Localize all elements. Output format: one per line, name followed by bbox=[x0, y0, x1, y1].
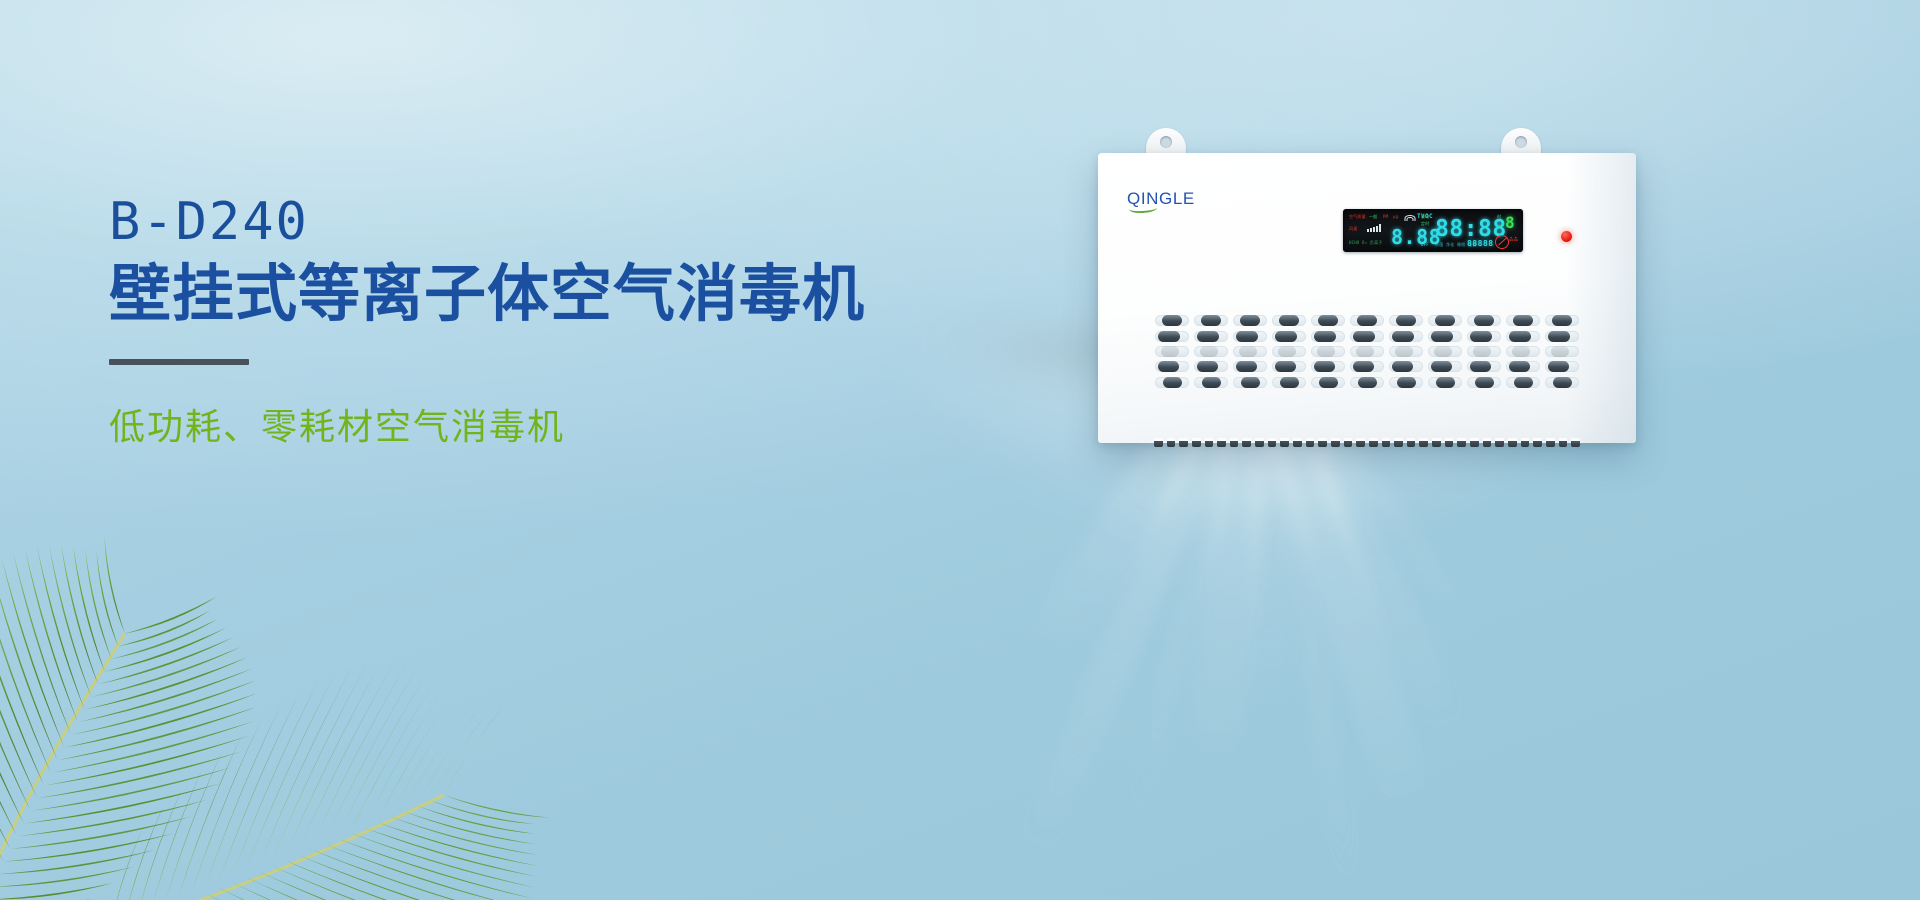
grille-slot bbox=[1545, 377, 1579, 388]
louver-tooth bbox=[1154, 438, 1163, 447]
wifi-icon bbox=[1405, 214, 1414, 221]
palm-leaflet bbox=[444, 795, 550, 817]
palm-leaflet bbox=[310, 654, 412, 849]
grille-slot bbox=[1272, 331, 1306, 342]
louver-tooth bbox=[1167, 438, 1176, 447]
grille-slot bbox=[1389, 331, 1423, 342]
product-banner: B-D240 壁挂式等离子体空气消毒机 低功耗、零耗材空气消毒机 QINGLE … bbox=[0, 0, 1920, 900]
grille-slot bbox=[1350, 331, 1384, 342]
grille-slot bbox=[1311, 315, 1345, 326]
louver-tooth bbox=[1407, 438, 1416, 447]
louver-tooth bbox=[1419, 438, 1428, 447]
grille-slot bbox=[1155, 346, 1189, 357]
grille-slot bbox=[1311, 346, 1345, 357]
grille-slot bbox=[1155, 315, 1189, 326]
palm-leaflet bbox=[137, 787, 183, 900]
lcd-label-minute: 分 bbox=[1497, 223, 1501, 228]
grille-slot bbox=[1272, 361, 1306, 372]
louver-tooth bbox=[1318, 438, 1327, 447]
palm-leaflet bbox=[203, 892, 392, 900]
brand-swoosh-icon bbox=[1129, 203, 1157, 213]
lcd-value-mode-digits: 88888 bbox=[1467, 239, 1494, 248]
grille-slot bbox=[1428, 331, 1462, 342]
grille-slot bbox=[1506, 331, 1540, 342]
lcd-filter-status: ∴∴ bbox=[1509, 235, 1518, 243]
palm-leaflet bbox=[0, 705, 4, 862]
palm-leaflet bbox=[324, 844, 527, 900]
grille-slot bbox=[1428, 361, 1462, 372]
grille-slot bbox=[1506, 361, 1540, 372]
lcd-label-fan: 风速 bbox=[1349, 226, 1357, 231]
louver-tooth bbox=[1230, 438, 1239, 447]
grille-slot bbox=[1194, 377, 1228, 388]
grille-slot bbox=[1272, 315, 1306, 326]
grille-slot bbox=[1350, 377, 1384, 388]
palm-leaflet bbox=[44, 736, 249, 786]
lcd-label-off: OFF bbox=[1421, 242, 1429, 247]
louver-tooth bbox=[1217, 438, 1226, 447]
palm-leaflet bbox=[13, 551, 71, 735]
palm-leaflet bbox=[337, 660, 435, 838]
louver-tooth bbox=[1344, 438, 1353, 447]
palm-leaflet bbox=[110, 827, 143, 900]
palm-leaflet bbox=[10, 816, 191, 849]
grille-slot bbox=[1233, 361, 1267, 372]
palm-leaflet bbox=[73, 546, 104, 671]
louver-tooth bbox=[1457, 438, 1466, 447]
palm-leaflet bbox=[270, 865, 486, 900]
palm-leaflet bbox=[244, 670, 338, 876]
lcd-value-pm: 8.88 bbox=[1391, 225, 1441, 249]
grille-slot bbox=[1155, 377, 1189, 388]
led-display-panel[interactable]: 空气质量 一般 PM µg 风速 HCHO O₃ 负离子 TVOC 8.88 bbox=[1343, 209, 1523, 252]
air-disinfection-machine: QINGLE 空气质量 一般 PM µg 风速 HCHO O₃ 负离子 bbox=[1098, 153, 1636, 443]
palm-leaflet bbox=[163, 750, 223, 900]
louver-tooth bbox=[1369, 438, 1378, 447]
signal-bars-icon bbox=[1367, 224, 1381, 232]
lcd-label-level: 一般 bbox=[1369, 214, 1377, 219]
palm-leaflet bbox=[297, 854, 510, 900]
product-tagline: 低功耗、零耗材空气消毒机 bbox=[109, 398, 865, 450]
louver-tooth bbox=[1382, 438, 1391, 447]
lcd-label-timer: 定时 bbox=[1421, 221, 1429, 226]
palm-leaflet bbox=[350, 665, 445, 833]
palm-leaflet bbox=[0, 565, 58, 760]
lcd-label-air-quality: 空气质量 bbox=[1349, 214, 1366, 219]
grille-row bbox=[1155, 315, 1579, 326]
louver-tooth bbox=[1483, 438, 1492, 447]
grille-slot bbox=[1389, 315, 1423, 326]
palm-leaflet bbox=[310, 849, 519, 900]
lcd-label-pm: PM bbox=[1383, 214, 1388, 219]
palm-leaflet bbox=[51, 721, 254, 773]
palm-leaflet bbox=[417, 704, 482, 806]
grille-slot bbox=[1194, 331, 1228, 342]
grille-slot bbox=[1389, 346, 1423, 357]
louver-tooth bbox=[1470, 438, 1479, 447]
grille-slot bbox=[1545, 361, 1579, 372]
louver-tooth bbox=[1521, 438, 1530, 447]
palm-leaflet bbox=[58, 707, 257, 761]
grille-slot bbox=[1467, 377, 1501, 388]
palm-leaflet bbox=[0, 588, 44, 786]
palm-leaflet bbox=[390, 687, 469, 817]
grille-slot bbox=[1545, 315, 1579, 326]
grille-slot bbox=[1467, 331, 1501, 342]
louver-tooth bbox=[1432, 438, 1441, 447]
louver-tooth bbox=[1268, 438, 1277, 447]
grille-row bbox=[1155, 361, 1579, 372]
grille-slot bbox=[1389, 377, 1423, 388]
louver-tooth bbox=[1242, 438, 1251, 447]
palm-leaflet bbox=[377, 679, 462, 822]
palm-leaflet bbox=[270, 658, 370, 866]
palm-leaflet bbox=[417, 806, 535, 834]
lcd-label-auto: 自动 bbox=[1421, 214, 1429, 219]
grille-slot bbox=[1506, 377, 1540, 388]
louver-tooth bbox=[1280, 438, 1289, 447]
grille-slot bbox=[1233, 346, 1267, 357]
grille-slot bbox=[1311, 331, 1345, 342]
grille-slot bbox=[1194, 315, 1228, 326]
grille-slot bbox=[1467, 346, 1501, 357]
louver-tooth bbox=[1546, 438, 1555, 447]
lcd-value-level: 8 bbox=[1505, 213, 1515, 232]
grille-slot bbox=[1506, 346, 1540, 357]
bottom-louvers bbox=[1154, 438, 1580, 447]
grille-slot bbox=[1233, 331, 1267, 342]
louver-tooth bbox=[1306, 438, 1315, 447]
grille-slot bbox=[1194, 346, 1228, 357]
palm-leaflet bbox=[203, 702, 282, 892]
palm-leaflet bbox=[444, 706, 504, 796]
air-outlet-grille bbox=[1155, 315, 1579, 388]
palm-stem bbox=[110, 795, 444, 900]
product-model: B-D240 bbox=[109, 196, 865, 248]
palm-stem bbox=[0, 634, 125, 900]
grille-slot bbox=[1350, 346, 1384, 357]
grille-slot bbox=[1467, 315, 1501, 326]
filter-alert-icon bbox=[1495, 235, 1509, 249]
banner-copy: B-D240 壁挂式等离子体空气消毒机 低功耗、零耗材空气消毒机 bbox=[109, 196, 865, 450]
grille-slot bbox=[1545, 331, 1579, 342]
palm-leaflet bbox=[1, 557, 64, 748]
palm-leaflet bbox=[217, 690, 301, 887]
palm-leaflet bbox=[17, 800, 207, 837]
louver-tooth bbox=[1495, 438, 1504, 447]
louver-tooth bbox=[1179, 438, 1188, 447]
palm-leaflet bbox=[123, 807, 163, 900]
louver-tooth bbox=[1559, 438, 1568, 447]
grille-slot bbox=[1155, 361, 1189, 372]
louver-tooth bbox=[1205, 438, 1214, 447]
louver-tooth bbox=[1356, 438, 1365, 447]
lcd-label-on: ON bbox=[1421, 235, 1426, 240]
grille-slot bbox=[1233, 377, 1267, 388]
louver-tooth bbox=[1331, 438, 1340, 447]
palm-leaflet bbox=[104, 537, 125, 634]
louver-tooth bbox=[1394, 438, 1403, 447]
palm-leaflet bbox=[0, 602, 37, 798]
grille-slot bbox=[1428, 377, 1462, 388]
palm-leaflet bbox=[364, 828, 538, 877]
grille-slot bbox=[1545, 346, 1579, 357]
palm-leaflet bbox=[350, 833, 535, 888]
title-divider bbox=[109, 359, 249, 365]
louver-tooth bbox=[1255, 438, 1264, 447]
palm-leaflet bbox=[324, 656, 425, 844]
grille-slot bbox=[1311, 361, 1345, 372]
grille-row bbox=[1155, 346, 1579, 357]
palm-leaflet bbox=[177, 732, 243, 900]
grille-slot bbox=[1350, 315, 1384, 326]
palm-leaflet bbox=[4, 833, 174, 861]
grille-slot bbox=[1272, 377, 1306, 388]
grille-row bbox=[1155, 377, 1579, 388]
louver-tooth bbox=[1533, 438, 1542, 447]
lcd-label-unit: µg bbox=[1393, 214, 1398, 219]
louver-tooth bbox=[1192, 438, 1201, 447]
grille-slot bbox=[1467, 361, 1501, 372]
palm-leaflet bbox=[31, 767, 233, 811]
grille-row bbox=[1155, 331, 1579, 342]
palm-leaflet bbox=[37, 545, 85, 710]
power-led-indicator bbox=[1561, 231, 1572, 242]
palm-leaflet bbox=[0, 866, 135, 887]
louver-tooth bbox=[1293, 438, 1302, 447]
louver-tooth bbox=[1508, 438, 1517, 447]
palm-leaflet bbox=[430, 801, 535, 825]
palm-leaflet bbox=[257, 663, 354, 871]
grille-slot bbox=[1233, 315, 1267, 326]
grille-slot bbox=[1155, 331, 1189, 342]
page-title: 壁挂式等离子体空气消毒机 bbox=[109, 260, 865, 329]
palm-leaflet bbox=[230, 679, 319, 882]
lcd-label-hour: 时 bbox=[1497, 214, 1501, 219]
palm-leaflet bbox=[337, 838, 532, 898]
device-body: QINGLE 空气质量 一般 PM µg 风速 HCHO O₃ 负离子 bbox=[1098, 153, 1636, 443]
palm-leaflet bbox=[125, 597, 217, 634]
palm-leaflet bbox=[190, 717, 263, 898]
louver-tooth bbox=[1571, 438, 1580, 447]
louver-tooth bbox=[1445, 438, 1454, 447]
palm-leaflet bbox=[24, 783, 221, 823]
grille-slot bbox=[1428, 315, 1462, 326]
grille-slot bbox=[1311, 377, 1345, 388]
grille-slot bbox=[1350, 361, 1384, 372]
grille-slot bbox=[1272, 346, 1306, 357]
lcd-label-sensors: HCHO O₃ 负离子 bbox=[1349, 240, 1382, 245]
grille-slot bbox=[1428, 346, 1462, 357]
brand-logo: QINGLE bbox=[1127, 189, 1195, 209]
grille-slot bbox=[1506, 315, 1540, 326]
palm-leaflet bbox=[404, 695, 477, 811]
grille-slot bbox=[1389, 361, 1423, 372]
palm-leaf-decoration bbox=[0, 470, 580, 900]
palm-leaflet bbox=[430, 710, 489, 800]
grille-slot bbox=[1194, 361, 1228, 372]
